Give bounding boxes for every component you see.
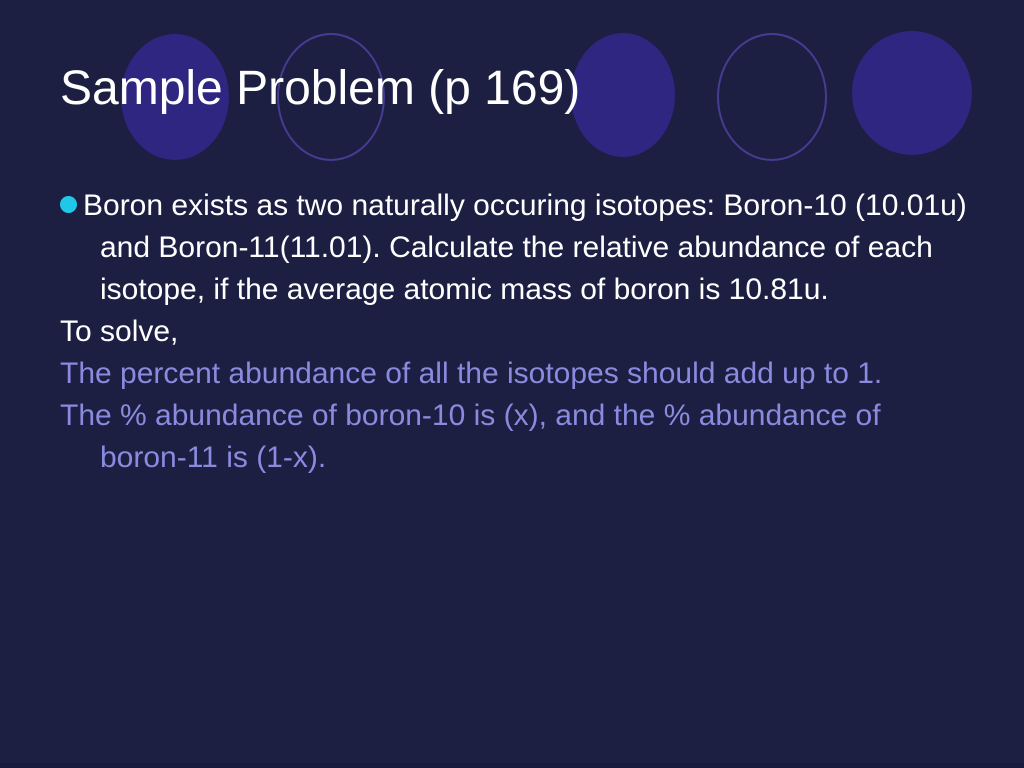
- paragraph-x-definition: The % abundance of boron-10 is (x), and …: [60, 395, 970, 479]
- slide-title-block: Sample Problem (p 169): [60, 58, 960, 128]
- page-title: Sample Problem (p 169): [60, 58, 960, 120]
- bullet-dot-icon: [60, 196, 77, 213]
- paragraph-percent-sum: The percent abundance of all the isotope…: [60, 353, 970, 395]
- presentation-slide: Sample Problem (p 169) Boron exists as t…: [0, 0, 1024, 768]
- paragraph-to-solve: To solve,: [60, 311, 970, 353]
- slide-body: Boron exists as two naturally occuring i…: [60, 185, 970, 479]
- slide-bottom-edge: [0, 763, 1024, 768]
- bullet-item-text: Boron exists as two naturally occuring i…: [83, 189, 967, 306]
- bullet-list-item-boron-intro: Boron exists as two naturally occuring i…: [60, 185, 970, 311]
